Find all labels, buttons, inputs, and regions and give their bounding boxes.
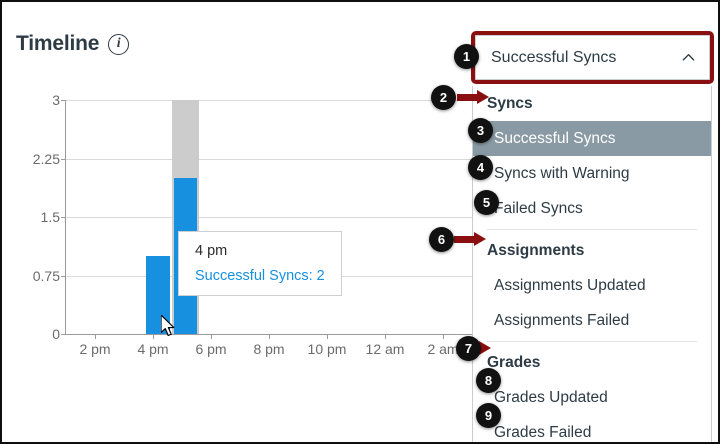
x-axis-tick-mark	[153, 334, 154, 339]
tooltip-value: Successful Syncs: 2	[195, 268, 341, 284]
callout-badge-7: 7	[456, 336, 481, 361]
tooltip-title: 4 pm	[195, 243, 341, 259]
x-axis-tick-mark	[385, 334, 386, 339]
y-axis-tick-mark	[61, 100, 66, 101]
chevron-up-icon[interactable]	[681, 50, 696, 65]
menu-separator	[487, 229, 697, 230]
menu-item-syncs-with-warning[interactable]: Syncs with Warning	[473, 156, 711, 191]
callout-badge-5: 5	[474, 190, 499, 215]
x-axis-tick-label: 10 pm	[308, 341, 347, 357]
y-axis-tick-label: 2.25	[33, 151, 60, 167]
y-axis-tick-mark	[61, 217, 66, 218]
callout-badge-8: 8	[476, 368, 501, 393]
x-axis-tick-label: 2 am	[427, 341, 458, 357]
callout-badge-3: 3	[468, 118, 493, 143]
info-icon[interactable]: i	[108, 34, 129, 55]
menu-item-failed-syncs[interactable]: Failed Syncs	[473, 191, 711, 226]
menu-item-grades-updated[interactable]: Grades Updated	[473, 380, 711, 415]
y-axis-tick-label: 0.75	[33, 268, 60, 284]
gridline	[66, 159, 472, 160]
chart-plot-area[interactable]: 00.751.52.253 2 pm4 pm6 pm8 pm10 pm12 am…	[65, 100, 472, 335]
x-axis-tick-label: 4 pm	[137, 341, 168, 357]
menu-group-syncs: Syncs	[473, 86, 711, 121]
x-axis-tick-label: 6 pm	[195, 341, 226, 357]
y-axis-tick-label: 0	[52, 326, 60, 342]
chart-tooltip: 4 pm Successful Syncs: 2	[178, 231, 342, 296]
menu-separator	[487, 341, 697, 342]
metric-select-value: Successful Syncs	[491, 49, 616, 67]
timeline-panel: Timeline i 00.751.52.253 2 pm4 pm6 pm8 p…	[0, 0, 720, 444]
menu-item-grades-failed[interactable]: Grades Failed	[473, 415, 711, 444]
menu-item-assignments-failed[interactable]: Assignments Failed	[473, 303, 711, 338]
page-title: Timeline	[16, 32, 99, 56]
callout-badge-6: 6	[429, 227, 454, 252]
x-axis-tick-mark	[95, 334, 96, 339]
x-axis-tick-mark	[443, 334, 444, 339]
callout-badge-4: 4	[468, 155, 493, 180]
y-axis-tick-mark	[61, 276, 66, 277]
callout-badge-9: 9	[476, 403, 501, 428]
metric-select[interactable]: Successful Syncs	[475, 35, 710, 80]
y-axis-tick-label: 1.5	[41, 209, 60, 225]
menu-group-assignments: Assignments	[473, 233, 711, 268]
page-header: Timeline i	[16, 32, 129, 56]
gridline	[66, 217, 472, 218]
x-axis-tick-mark	[211, 334, 212, 339]
y-axis-tick-mark	[61, 334, 66, 335]
x-axis-tick-label: 12 am	[366, 341, 405, 357]
x-axis-tick-label: 8 pm	[253, 341, 284, 357]
menu-item-successful-syncs[interactable]: Successful Syncs	[473, 121, 711, 156]
x-axis-tick-mark	[327, 334, 328, 339]
x-axis-tick-mark	[269, 334, 270, 339]
y-axis-tick-label: 3	[52, 92, 60, 108]
x-axis-tick-label: 2 pm	[79, 341, 110, 357]
menu-item-assignments-updated[interactable]: Assignments Updated	[473, 268, 711, 303]
mouse-cursor	[161, 315, 177, 337]
gridline	[66, 100, 472, 101]
metric-select-menu[interactable]: SyncsSuccessful SyncsSyncs with WarningF…	[472, 86, 712, 444]
callout-badge-2: 2	[431, 85, 456, 110]
callout-badge-1: 1	[454, 44, 479, 69]
y-axis-tick-mark	[61, 159, 66, 160]
metric-select-highlight: Successful Syncs	[471, 31, 714, 84]
timeline-chart: 00.751.52.253 2 pm4 pm6 pm8 pm10 pm12 am…	[16, 90, 476, 360]
menu-group-grades: Grades	[473, 345, 711, 380]
